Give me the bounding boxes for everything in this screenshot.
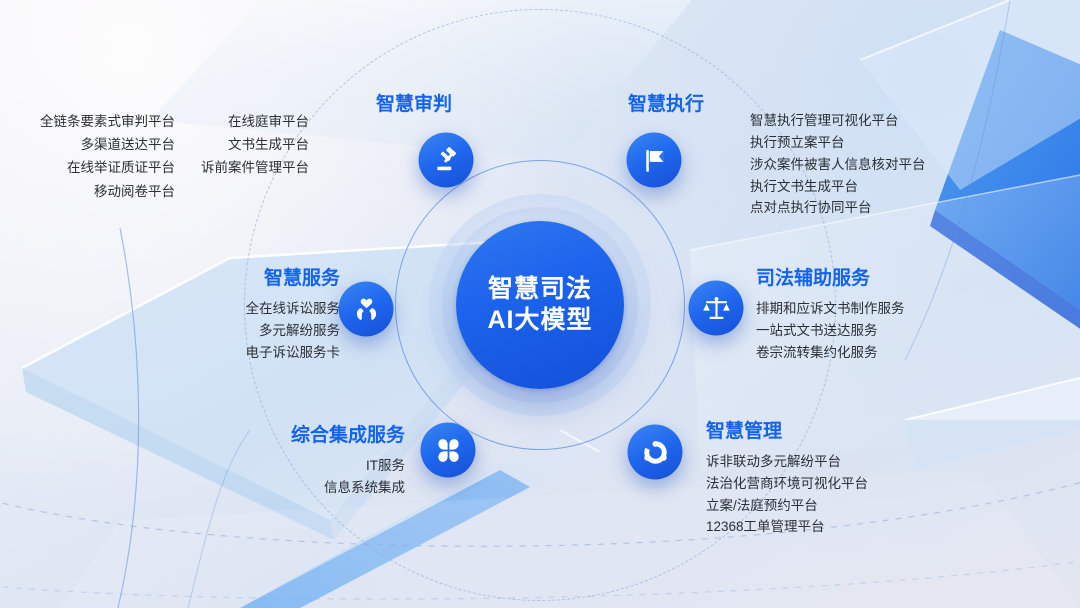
group-smart-enforcement-items: 智慧执行管理可视化平台 执行预立案平台 涉众案件被害人信息核对平台 执行文书生成… [750,110,926,219]
group-title-integrated-service: 综合集成服务 [60,425,405,448]
list-item: 排期和应诉文书制作服务 [756,298,905,320]
center-core-circle[interactable]: 智慧司法 AI大模型 [456,221,624,389]
node-integrated-service[interactable] [421,423,476,478]
list-item: 多元解纷服务 [0,320,340,342]
glass-panel-right-lower [905,378,1080,470]
group-title-judicial-support: 司法辅助服务 [756,268,905,291]
list-item: 12368工单管理平台 [706,516,868,538]
list-item: IT服务 [60,455,405,477]
infographic-canvas: 智慧司法 AI大模型 [0,0,1080,608]
group-title-smart-enforcement: 智慧执行 [628,94,704,117]
node-smart-enforcement[interactable] [627,133,682,188]
group-smart-trial-title: 智慧审判 [376,94,452,124]
clover-icon [434,436,462,464]
list-item: 信息系统集成 [60,477,405,499]
list-item: 涉众案件被害人信息核对平台 [750,154,926,176]
list-item: 全在线诉讼服务 [0,298,340,320]
list-item: 文书生成平台 [201,133,309,156]
core-title-line2: AI大模型 [487,305,592,336]
heart-hands-icon [352,295,380,323]
group-integrated-service: 综合集成服务 IT服务 信息系统集成 [60,425,405,499]
list-item: 智慧执行管理可视化平台 [750,110,926,132]
list-item: 多渠道送达平台 [40,133,175,156]
list-item: 一站式文书送达服务 [756,320,905,342]
list-item: 卷宗流转集约化服务 [756,342,905,364]
group-judicial-support: 司法辅助服务 排期和应诉文书制作服务 一站式文书送达服务 卷宗流转集约化服务 [756,268,905,363]
group-smart-management: 智慧管理 诉非联动多元解纷平台 法治化营商环境可视化平台 立案/法庭预约平台 1… [706,421,868,538]
node-judicial-support[interactable] [689,281,744,336]
node-smart-trial[interactable] [419,133,474,188]
list-item: 点对点执行协同平台 [750,197,926,219]
list-item: 电子诉讼服务卡 [0,342,340,364]
group-title-smart-trial: 智慧审判 [376,94,452,117]
scales-icon [702,294,730,322]
list-item: 诉前案件管理平台 [201,156,309,179]
group-smart-trial-items: 全链条要素式审判平台 多渠道送达平台 在线举证质证平台 移动阅卷平台 在线庭审平… [40,110,309,203]
list-item: 诉非联动多元解纷平台 [706,451,868,473]
list-item: 移动阅卷平台 [40,180,175,203]
list-item: 执行文书生成平台 [750,176,926,198]
group-smart-service: 智慧服务 全在线诉讼服务 多元解纷服务 电子诉讼服务卡 [0,268,340,363]
group-title-smart-service: 智慧服务 [0,268,340,291]
flag-icon [640,146,668,174]
gavel-icon [432,146,460,174]
core-title-line1: 智慧司法 [488,274,592,305]
node-smart-management[interactable] [628,425,683,480]
smart-trial-column-left: 全链条要素式审判平台 多渠道送达平台 在线举证质证平台 移动阅卷平台 [40,110,175,203]
list-item: 在线庭审平台 [201,110,309,133]
group-smart-enforcement-title: 智慧执行 [628,94,704,124]
node-smart-service[interactable] [339,282,394,337]
list-item: 全链条要素式审判平台 [40,110,175,133]
network-nodes-icon [641,438,669,466]
smart-trial-column-right: 在线庭审平台 文书生成平台 诉前案件管理平台 [201,110,309,203]
group-title-smart-management: 智慧管理 [706,421,868,444]
list-item: 法治化营商环境可视化平台 [706,473,868,495]
list-item: 在线举证质证平台 [40,156,175,179]
list-item: 立案/法庭预约平台 [706,495,868,517]
list-item: 执行预立案平台 [750,132,926,154]
